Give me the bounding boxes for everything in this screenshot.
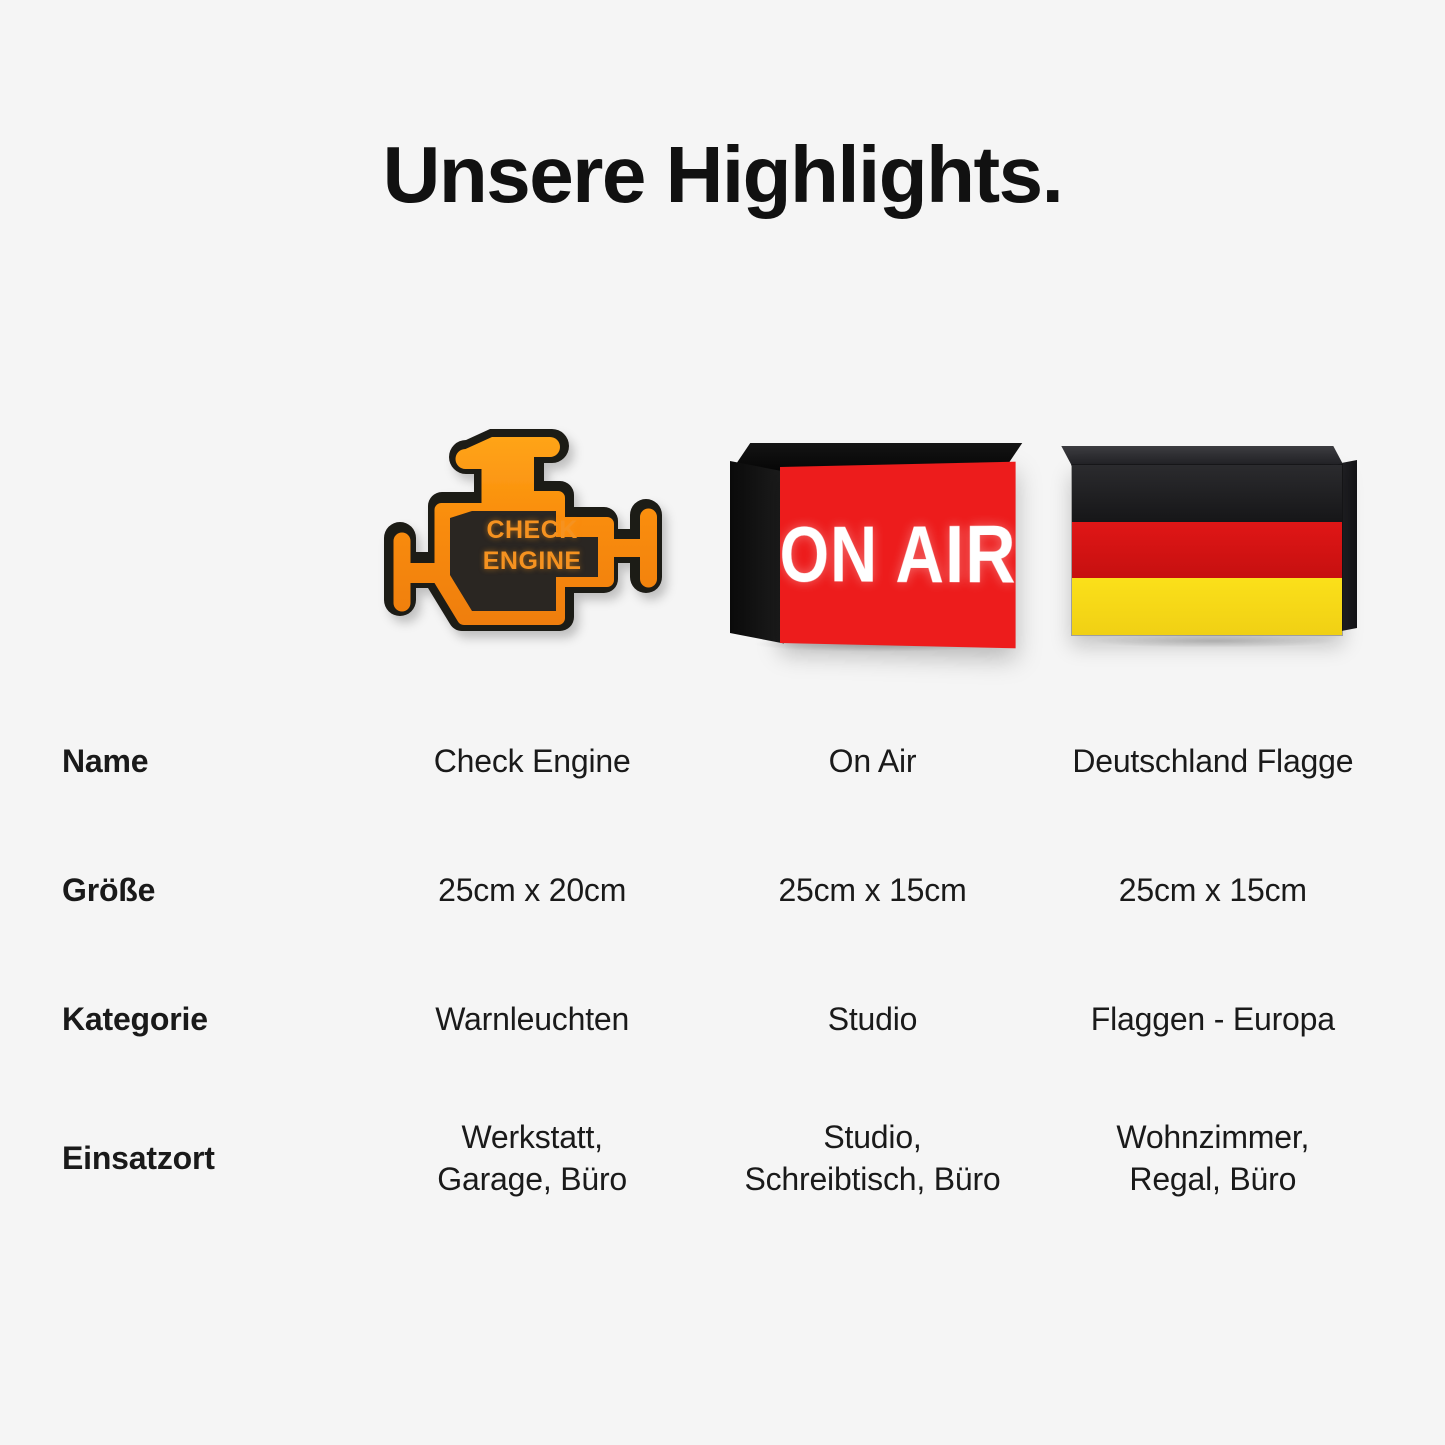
product-image-on-air[interactable]: ON AIR [702, 404, 1042, 666]
cell-einsatzort-on-air: Studio, Schreibtisch, Büro [702, 1083, 1042, 1233]
on-air-front-face: ON AIR [780, 462, 1016, 649]
product-image-check-engine[interactable]: CHECK ENGINE [362, 404, 702, 666]
on-air-side-panel [730, 461, 784, 643]
flag-band-gold [1072, 578, 1342, 635]
cell-groesse-deutschland-flagge: 25cm x 15cm [1043, 825, 1383, 954]
cell-kategorie-check-engine: Warnleuchten [362, 954, 702, 1083]
product-image-deutschland-flagge[interactable] [1043, 404, 1383, 666]
specification-table: Name Check Engine On Air Deutschland Fla… [62, 696, 1383, 1233]
table-row: Größe 25cm x 20cm 25cm x 15cm 25cm x 15c… [62, 825, 1383, 954]
cell-name-deutschland-flagge: Deutschland Flagge [1043, 696, 1383, 825]
cell-line-1: Werkstatt, [362, 1116, 702, 1158]
flag-band-red [1072, 522, 1342, 579]
cell-line-1: Studio, [702, 1116, 1042, 1158]
cell-groesse-check-engine: 25cm x 20cm [362, 825, 702, 954]
product-image-row: CHECK ENGINE ON AIR [62, 404, 1383, 666]
table-row: Name Check Engine On Air Deutschland Fla… [62, 696, 1383, 825]
row-label-name: Name [62, 696, 362, 825]
table-row: Einsatzort Werkstatt, Garage, Büro Studi… [62, 1083, 1383, 1233]
cell-name-on-air: On Air [702, 696, 1042, 825]
cell-line-2: Schreibtisch, Büro [702, 1158, 1042, 1200]
cell-einsatzort-deutschland-flagge: Wohnzimmer, Regal, Büro [1043, 1083, 1383, 1233]
cell-line-2: Regal, Büro [1043, 1158, 1383, 1200]
cell-kategorie-deutschland-flagge: Flaggen - Europa [1043, 954, 1383, 1083]
on-air-image-text: ON AIR [780, 508, 1016, 602]
check-engine-shape-icon [372, 419, 692, 654]
row-label-einsatzort: Einsatzort [62, 1083, 362, 1233]
page-title: Unsere Highlights. [0, 131, 1445, 219]
flag-front-face [1071, 464, 1343, 636]
flag-band-black [1072, 465, 1342, 522]
highlights-page: Unsere Highlights. [0, 0, 1445, 1445]
on-air-lightbox-icon: ON AIR [722, 443, 1022, 648]
cell-line-2: Garage, Büro [362, 1158, 702, 1200]
cell-kategorie-on-air: Studio [702, 954, 1042, 1083]
flag-drop-shadow [1089, 634, 1339, 648]
check-engine-lamp-icon: CHECK ENGINE [372, 419, 692, 654]
cell-name-check-engine: Check Engine [362, 696, 702, 825]
cell-line-1: Wohnzimmer, [1043, 1116, 1383, 1158]
row-label-kategorie: Kategorie [62, 954, 362, 1083]
cell-groesse-on-air: 25cm x 15cm [702, 825, 1042, 954]
germany-flag-lightbox-icon [1063, 446, 1363, 646]
cell-einsatzort-check-engine: Werkstatt, Garage, Büro [362, 1083, 702, 1233]
table-row: Kategorie Warnleuchten Studio Flaggen - … [62, 954, 1383, 1083]
row-label-groesse: Größe [62, 825, 362, 954]
